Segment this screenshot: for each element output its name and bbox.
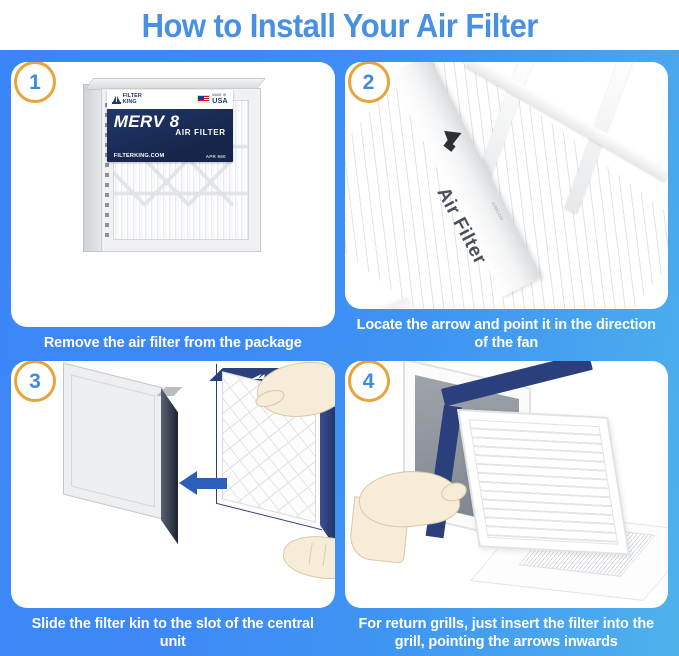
brand-line-2: KING [123,99,137,105]
grill-louver-slats [468,419,617,544]
step-card-1: FILTER KING MADE IN USA [11,62,335,357]
step-number-4: 4 [363,371,375,392]
step-card-3: 3 Slide the filter kin to the slot of th… [11,361,335,656]
filter-product-label: FILTER KING MADE IN USA [107,90,233,162]
step-badge-3: 3 [14,361,56,402]
step-caption-1: Remove the air filter from the package [11,327,335,357]
crown-icon [112,96,121,104]
step-3-image-panel: 3 [11,361,335,608]
filter-king-logo: FILTER KING [112,94,142,105]
step-caption-4: For return grills, just insert the filte… [345,608,669,656]
grill-louver-door [457,409,630,555]
made-in-usa-badge: MADE IN USA [197,94,228,105]
step-number-3: 3 [29,371,41,392]
apr-rating: APR 650 [206,154,226,159]
brand-website: FILTERKING.COM [114,153,165,159]
air-filter-corner-closeup: Air Filter AIRFLOW [345,62,669,309]
step-1-image-panel: FILTER KING MADE IN USA [11,62,335,327]
filter-inserted-into-return-grill-diagram [345,361,669,608]
step-number-1: 1 [29,72,41,93]
filter-sliding-into-slot-diagram [11,361,335,608]
step-badge-4: 4 [348,361,390,402]
usa-flag-icon [197,95,210,103]
brand-name: FILTER KING [123,94,142,105]
step-card-4: 4 For return grills, just insert the fil… [345,361,669,656]
country-text: USA [212,97,228,104]
steps-board: FILTER KING MADE IN USA [0,50,679,656]
step-number-2: 2 [363,72,375,93]
step-card-2: Air Filter AIRFLOW 2 Locate the arrow an… [345,62,669,357]
step-caption-2: Locate the arrow and point it in the dir… [345,309,669,357]
step-badge-1: 1 [14,62,56,103]
label-footer-row: FILTERKING.COM APR 650 [114,153,226,159]
label-body: MERV 8 AIR FILTER FILTERKING.COM APR 650 [107,109,233,162]
title-band: How to Install Your Air Filter [0,0,679,50]
air-filter-product-photo: FILTER KING MADE IN USA [83,76,263,261]
step-2-image-panel: Air Filter AIRFLOW 2 [345,62,669,309]
steps-grid: FILTER KING MADE IN USA [11,62,668,656]
slot-opening-depth [161,388,178,544]
page-title: How to Install Your Air Filter [141,9,537,42]
step-4-image-panel: 4 [345,361,669,608]
central-unit-slot-inner [71,375,155,508]
label-header-row: FILTER KING MADE IN USA [107,90,233,109]
step-caption-3: Slide the filter kin to the slot of the … [11,608,335,656]
step-badge-2: 2 [348,62,390,103]
